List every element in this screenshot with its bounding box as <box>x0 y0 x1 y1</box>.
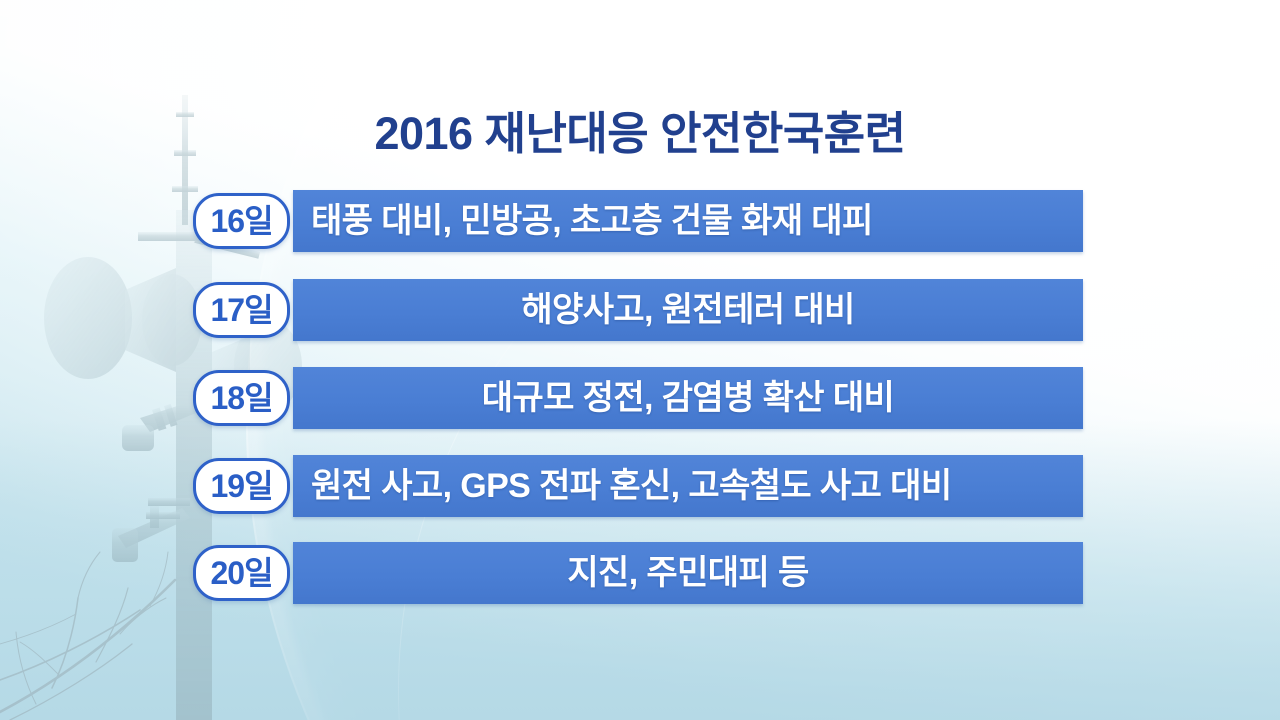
schedule-description: 원전 사고, GPS 전파 혼신, 고속철도 사고 대비 <box>311 469 952 503</box>
schedule-row: 대규모 정전, 감염병 확산 대비 18일 <box>193 367 1083 429</box>
day-badge: 17일 <box>193 282 290 338</box>
schedule-row: 원전 사고, GPS 전파 혼신, 고속철도 사고 대비 19일 <box>193 455 1083 517</box>
schedule-row: 해양사고, 원전테러 대비 17일 <box>193 279 1083 341</box>
day-badge-label: 18일 <box>210 382 272 414</box>
day-badge-label: 16일 <box>210 205 272 237</box>
schedule-description: 해양사고, 원전테러 대비 <box>521 293 854 327</box>
schedule-list: 태풍 대비, 민방공, 초고층 건물 화재 대피 16일 해양사고, 원전테러 … <box>0 0 1280 720</box>
day-badge-label: 20일 <box>210 557 272 589</box>
day-badge: 19일 <box>193 458 290 514</box>
schedule-description-bar: 원전 사고, GPS 전파 혼신, 고속철도 사고 대비 <box>293 455 1083 517</box>
schedule-description: 태풍 대비, 민방공, 초고층 건물 화재 대피 <box>311 204 873 238</box>
schedule-description-bar: 대규모 정전, 감염병 확산 대비 <box>293 367 1083 429</box>
day-badge-label: 19일 <box>210 470 272 502</box>
broadcast-graphic-screen: 2016 재난대응 안전한국훈련 태풍 대비, 민방공, 초고층 건물 화재 대… <box>0 0 1280 720</box>
schedule-description-bar: 지진, 주민대피 등 <box>293 542 1083 604</box>
day-badge: 16일 <box>193 193 290 249</box>
schedule-description: 지진, 주민대피 등 <box>567 556 808 590</box>
schedule-row: 지진, 주민대피 등 20일 <box>193 542 1083 604</box>
schedule-description: 대규모 정전, 감염병 확산 대비 <box>482 381 894 415</box>
schedule-description-bar: 태풍 대비, 민방공, 초고층 건물 화재 대피 <box>293 190 1083 252</box>
schedule-row: 태풍 대비, 민방공, 초고층 건물 화재 대피 16일 <box>193 190 1083 252</box>
day-badge: 20일 <box>193 545 290 601</box>
day-badge-label: 17일 <box>210 294 272 326</box>
day-badge: 18일 <box>193 370 290 426</box>
schedule-description-bar: 해양사고, 원전테러 대비 <box>293 279 1083 341</box>
